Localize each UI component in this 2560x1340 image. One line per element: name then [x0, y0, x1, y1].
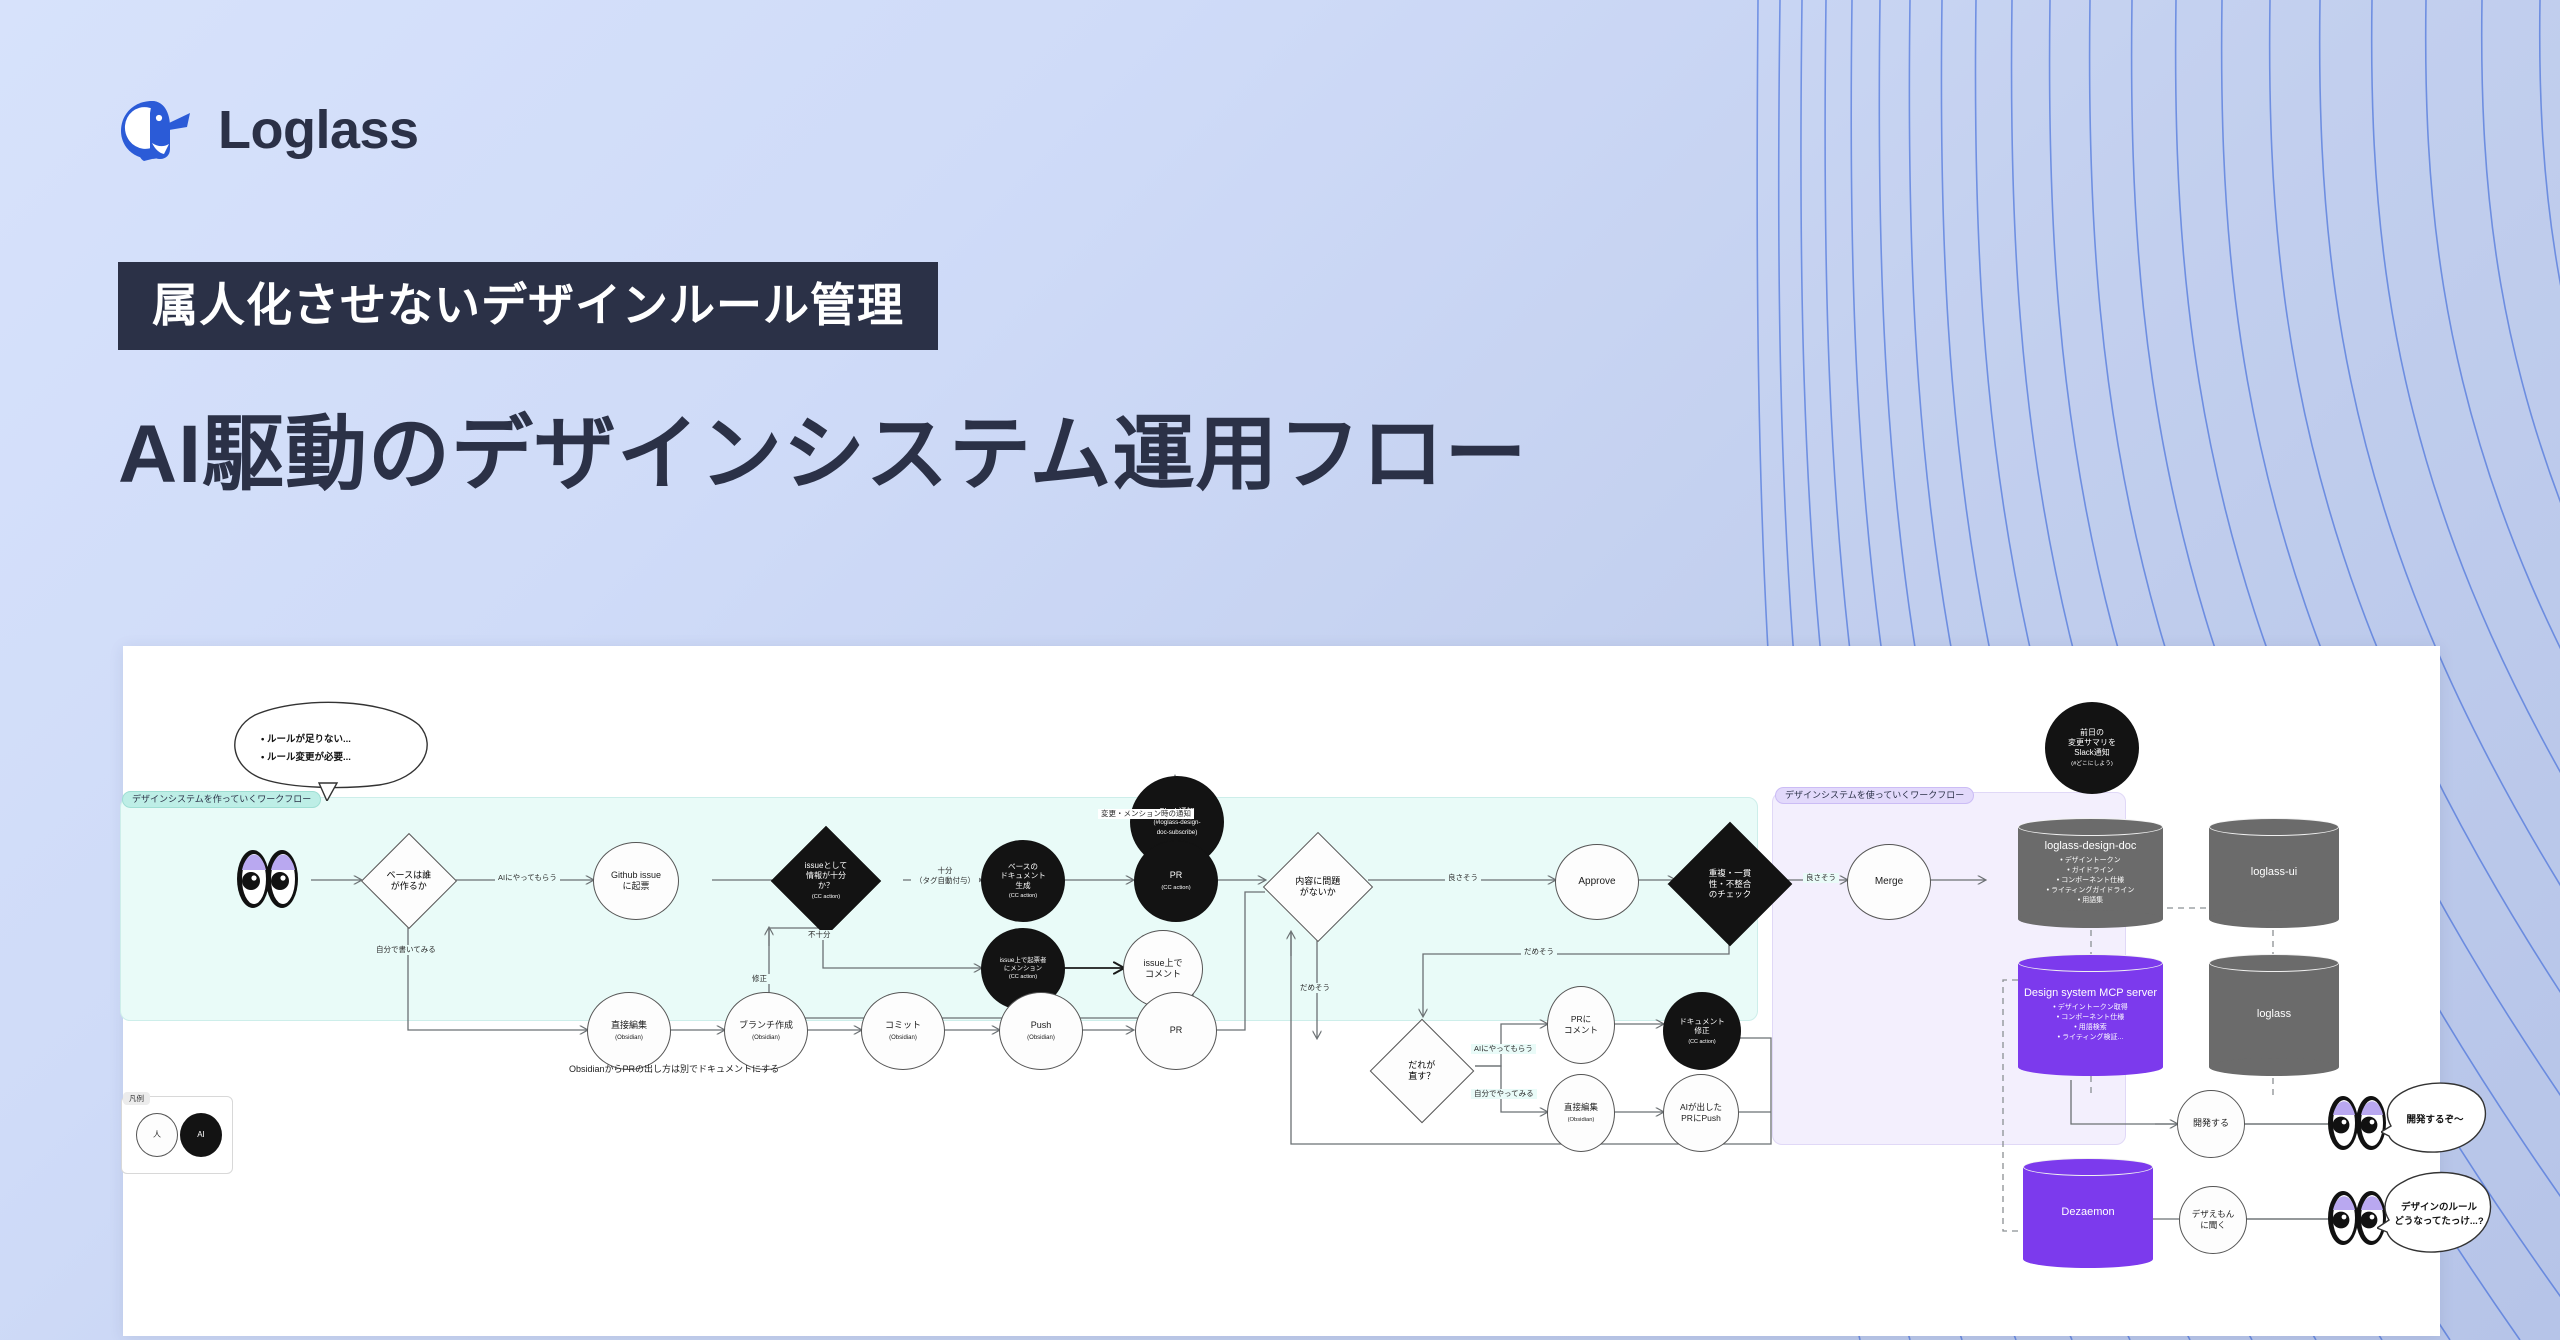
node-label: 前日の: [2080, 728, 2104, 737]
node-document-fix[interactable]: ドキュメント 修正 (CC action): [1663, 992, 1741, 1070]
cylinder-mcp-server[interactable]: Design system MCP server デザイントークン取得 コンポー…: [2018, 954, 2163, 1076]
legend-label: 人: [153, 1130, 161, 1140]
node-label: 直す？: [1408, 1071, 1435, 1081]
bubble-line: • ルール変更が必要...: [261, 749, 351, 767]
bubble-line: デザインのルール: [2401, 1202, 2477, 1213]
edge-label-looks-bad-2: だめそう: [1521, 947, 1557, 957]
brand-name: Loglass: [218, 99, 419, 161]
cylinder-title: loglass: [2257, 1008, 2291, 1022]
node-label: Merge: [1875, 876, 1903, 889]
node-label: Github issue: [611, 870, 661, 880]
diagram-canvas: デザインシステムを作っていくワークフロー デザインシステムを使っていくワークフロ…: [123, 646, 2440, 1336]
node-develop[interactable]: 開発する: [2177, 1090, 2245, 1158]
node-sublabel: (CC action): [812, 894, 840, 900]
cylinder-item: デザイントークン: [2047, 856, 2135, 866]
node-label: issue上で起票者: [1000, 957, 1047, 964]
cylinder-item: ライティング検証...: [2053, 1033, 2127, 1043]
poster-root: Loglass 属人化させないデザインルール管理 AI駆動のデザインシステム運用…: [0, 0, 2560, 1340]
node-label: がないか: [1300, 887, 1336, 897]
tagline-text: 属人化させないデザインルール管理: [152, 279, 904, 331]
node-direct-edit-right[interactable]: 直接編集 (Obsidian): [1547, 1074, 1615, 1152]
node-issue-info-enough[interactable]: issueとして 情報が十分 か？ (CC action): [778, 833, 872, 927]
node-label: Slack通知: [2074, 748, 2110, 757]
edge-label-not-enough: 不十分: [805, 930, 834, 940]
bubble-line: • ルールが足りない...: [261, 731, 351, 749]
edge-label-write-myself: 自分で書いてみる: [373, 945, 439, 955]
node-sublabel: (Obsidian): [752, 1035, 780, 1041]
node-commit[interactable]: コミット (Obsidian): [861, 992, 945, 1070]
node-label: が作るか: [391, 881, 427, 891]
node-label: PRにPush: [1681, 1113, 1721, 1123]
cylinder-item: ガイドライン: [2047, 866, 2135, 876]
node-daily-summary-slack[interactable]: 前日の 変更サマリを Slack通知 (#どこにしよう): [2045, 702, 2139, 794]
node-github-issue[interactable]: Github issue に起票: [593, 842, 679, 920]
cylinder-item: コンポーネント仕様: [2053, 1013, 2127, 1023]
edge-label-fix: 修正: [749, 974, 770, 984]
node-label: 内容に問題: [1295, 876, 1340, 886]
node-label: ブランチ作成: [739, 1020, 793, 1030]
cylinder-title: loglass-ui: [2251, 866, 2297, 880]
edge-label-looks-bad-1: だめそう: [1297, 983, 1333, 993]
node-sublabel: (#loglass-design-: [1153, 819, 1200, 826]
edge-label-try-myself: 自分でやってみる: [1471, 1089, 1537, 1099]
node-who-creates-base[interactable]: ベースは誰 が作るか: [361, 833, 455, 927]
legend-human-node: 人: [136, 1113, 178, 1157]
node-label: AIが出した: [1680, 1102, 1722, 1112]
legend-title: 凡例: [123, 1092, 150, 1105]
whale-logo-icon: [118, 97, 196, 163]
note-obsidian-pr: ObsidianからPRの出し方は別でドキュメントにする: [569, 1062, 779, 1075]
edge-label-ai-do-it-2: AIにやってもらう: [1471, 1044, 1536, 1054]
node-sublabel: (Obsidian): [1568, 1117, 1595, 1123]
speech-bubble-rules: • ルールが足りない... • ルール変更が必要...: [223, 701, 439, 801]
page-title: AI駆動のデザインシステム運用フロー: [118, 410, 1528, 500]
cylinder-loglass-ui[interactable]: loglass-ui: [2209, 818, 2339, 928]
node-label: PRに: [1571, 1014, 1591, 1024]
node-label: 修正: [1694, 1026, 1709, 1035]
node-label: Approve: [1578, 876, 1615, 889]
node-label: か？: [818, 881, 834, 890]
cylinder-dezaemon[interactable]: Dezaemon: [2023, 1158, 2153, 1268]
cylinder-item: 用語集: [2047, 896, 2135, 906]
cylinder-title: Design system MCP server: [2024, 987, 2157, 1001]
node-label: 開発する: [2193, 1118, 2229, 1129]
node-base-doc-generate[interactable]: ベースの ドキュメント 生成 (CC action): [981, 840, 1065, 922]
node-sublabel: (Obsidian): [1027, 1035, 1055, 1041]
legend-label: AI: [197, 1130, 205, 1140]
cylinder-loglass[interactable]: loglass: [2209, 954, 2339, 1076]
node-who-fixes[interactable]: だれが 直す？: [1369, 1018, 1473, 1122]
node-label: だれが: [1408, 1060, 1435, 1070]
node-label: issueとして: [805, 861, 847, 870]
node-sublabel: (CC action): [1161, 885, 1190, 891]
bubble-line: 開発するぞ〜: [2381, 1113, 2489, 1127]
node-sublabel: (CC action): [1688, 1039, 1715, 1045]
node-label: デザえもん: [2192, 1209, 2235, 1219]
speech-bubble-develop: 開発するぞ〜: [2381, 1080, 2489, 1162]
node-label: ドキュメント: [1000, 871, 1046, 880]
node-sublabel: doc-subscribe): [1157, 829, 1198, 836]
node-label: PR: [1170, 1025, 1183, 1036]
node-pr-comment[interactable]: PRに コメント: [1547, 986, 1615, 1064]
node-push[interactable]: Push (Obsidian): [999, 992, 1083, 1070]
tagline-band: 属人化させないデザインルール管理: [118, 262, 938, 350]
node-pr-bottom[interactable]: PR: [1135, 992, 1217, 1070]
edge-label-looks-good-2: 良さそう: [1803, 873, 1839, 883]
legend-ai-node: AI: [180, 1113, 222, 1157]
cylinder-item: デザイントークン取得: [2053, 1003, 2127, 1013]
node-direct-edit-bottom[interactable]: 直接編集 (Obsidian): [587, 992, 671, 1070]
node-label: 生成: [1015, 881, 1030, 890]
node-merge[interactable]: Merge: [1847, 844, 1931, 920]
node-label: コメント: [1145, 969, 1181, 979]
cylinder-loglass-design-doc[interactable]: loglass-design-doc デザイントークン ガイドライン コンポーネ…: [2018, 818, 2163, 928]
node-duplication-check[interactable]: 重複・一貫 性・不整合 のチェック: [1668, 822, 1790, 944]
node-label: に起票: [622, 881, 649, 891]
node-sublabel: (CC action): [1009, 893, 1037, 899]
cylinder-item: ライティングガイドライン: [2047, 886, 2135, 896]
node-sublabel: (Obsidian): [615, 1035, 643, 1041]
edge-label-notify-on-change: 変更・メンション時の通知: [1098, 809, 1194, 819]
node-pr-top[interactable]: PR (CC action): [1134, 840, 1218, 922]
node-label: 変更サマリを: [2068, 738, 2116, 747]
node-label: 直接編集: [611, 1020, 647, 1030]
bubble-line: どうなってたっけ...?: [2394, 1216, 2483, 1227]
speech-bubble-rule-question: デザインのルール どうなってたっけ...?: [2377, 1170, 2495, 1262]
node-label: Push: [1031, 1020, 1052, 1030]
node-label: にメンション: [1004, 965, 1042, 972]
node-label: 性・不整合: [1709, 879, 1752, 889]
node-ai-pr-push[interactable]: AIが出した PRにPush: [1663, 1074, 1739, 1152]
edge-label-ai-do-it-1: AIにやってもらう: [495, 873, 560, 883]
edge-label-enough: 十分 （タグ自動付与）: [911, 866, 979, 886]
node-branch-create[interactable]: ブランチ作成 (Obsidian): [724, 992, 808, 1070]
cylinder-title: loglass-design-doc: [2045, 840, 2137, 854]
brand-logo: Loglass: [118, 97, 419, 163]
node-sublabel: (#どこにしよう): [2071, 761, 2113, 767]
node-label: ベースは誰: [387, 870, 432, 880]
node-label: に聞く: [2200, 1220, 2226, 1230]
node-label: コメント: [1564, 1025, 1598, 1035]
node-label: ベースの: [1008, 862, 1038, 871]
node-sublabel: (Obsidian): [889, 1035, 917, 1041]
node-label: のチェック: [1709, 889, 1752, 899]
node-sublabel: (CC action): [1009, 974, 1037, 980]
edge-label-looks-good-1: 良さそう: [1445, 873, 1481, 883]
edge-label-enough-sub: （タグ自動付与）: [915, 876, 975, 885]
node-label: issue上で: [1143, 958, 1182, 968]
node-ask-dezaemon[interactable]: デザえもん に聞く: [2179, 1186, 2247, 1254]
legend-box: 人 AI: [121, 1096, 233, 1174]
node-label: 直接編集: [1564, 1102, 1598, 1112]
eyes-icon-start: [231, 848, 303, 910]
node-content-ok[interactable]: 内容に問題 がないか: [1263, 832, 1371, 940]
cylinder-title: Dezaemon: [2061, 1206, 2114, 1220]
cylinder-item: コンポーネント仕様: [2047, 876, 2135, 886]
node-label: コミット: [885, 1020, 921, 1030]
node-label: 重複・一貫: [1709, 868, 1752, 878]
node-label: ドキュメント: [1679, 1017, 1725, 1026]
node-approve[interactable]: Approve: [1555, 844, 1639, 920]
node-label: 情報が十分: [806, 871, 846, 880]
cylinder-item: 用語検索: [2053, 1023, 2127, 1033]
node-label: PR: [1170, 870, 1183, 880]
edge-label-enough-main: 十分: [938, 866, 953, 875]
